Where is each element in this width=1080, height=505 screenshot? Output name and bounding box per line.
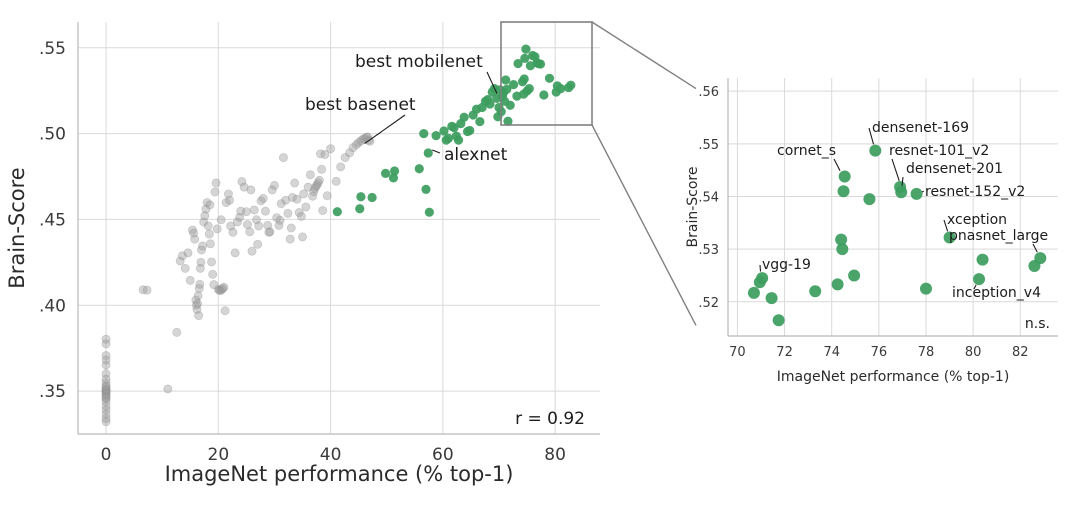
inset-annotation-leader [922, 191, 924, 192]
data-point [225, 196, 233, 204]
data-point [206, 240, 214, 248]
inset-annotation-label: densenet-169 [872, 120, 969, 136]
data-point [332, 177, 340, 185]
data-point [102, 394, 110, 402]
main-annotation-label: best mobilenet [355, 52, 483, 72]
main-y-axis-title: Brain-Score [5, 167, 29, 288]
data-point [509, 80, 518, 89]
data-point [195, 311, 203, 319]
inset-y-tick-label: .56 [698, 85, 719, 100]
data-point [539, 90, 548, 99]
data-point [337, 163, 345, 171]
inset-x-tick-label: 76 [871, 345, 888, 360]
main-y-tick-label: .55 [39, 39, 66, 59]
data-point [270, 181, 278, 189]
data-point [217, 216, 225, 224]
inset-y-axis-title: Brain-Score [685, 167, 701, 248]
data-point [279, 154, 287, 162]
data-point [184, 249, 192, 257]
data-point [211, 188, 219, 196]
data-point [381, 169, 390, 178]
data-point [465, 126, 474, 135]
data-point [460, 113, 469, 122]
data-point [204, 222, 212, 230]
data-point [838, 185, 850, 197]
data-point [520, 54, 529, 63]
data-point [390, 166, 399, 175]
main-y-tick-label: .35 [39, 382, 66, 402]
data-point [756, 272, 768, 284]
data-point [143, 286, 151, 294]
zoom-connector-bottom [592, 125, 696, 325]
data-point [444, 134, 453, 143]
data-point [475, 117, 484, 126]
data-point [977, 254, 989, 266]
data-point [205, 230, 213, 238]
data-point [248, 247, 256, 255]
inset-y-tick-label: .55 [698, 138, 719, 153]
data-point [209, 270, 217, 278]
data-point [255, 222, 263, 230]
data-point [191, 235, 199, 243]
inset-x-tick-label: 74 [823, 345, 840, 360]
data-point [164, 385, 172, 393]
data-point [229, 228, 237, 236]
data-point [454, 136, 463, 145]
data-point [319, 206, 327, 214]
inset-annotation-label: pnasnet_large [949, 228, 1048, 244]
data-point [196, 280, 204, 288]
data-point [237, 207, 245, 215]
inset-annotation-leader [834, 159, 840, 171]
data-point [276, 216, 284, 224]
data-point [284, 209, 292, 217]
zoom-region-box [501, 22, 592, 125]
data-point [246, 228, 254, 236]
data-point [315, 176, 323, 184]
data-point [415, 164, 424, 173]
inset-annotation-leader [760, 265, 761, 272]
brain-score-vs-imagenet-figure: .35.40.45.50.55020406080ImageNet perform… [0, 0, 1080, 505]
main-series-gray [102, 133, 374, 426]
data-point [525, 84, 534, 93]
data-point [836, 243, 848, 255]
data-point [545, 74, 554, 83]
data-point [254, 240, 262, 248]
data-point [895, 186, 907, 198]
data-point [566, 81, 575, 90]
data-point [748, 287, 760, 299]
data-point [102, 382, 110, 390]
data-point [213, 225, 221, 233]
inset-y-tick-label: .53 [698, 243, 719, 258]
inset-annotation-label: densenet-201 [906, 161, 1003, 177]
data-point [206, 201, 214, 209]
data-point [102, 340, 110, 348]
inset-annotation-label: resnet-152_v2 [925, 184, 1025, 200]
zoom-connectors [592, 22, 696, 325]
data-point [286, 235, 294, 243]
data-point [247, 186, 255, 194]
inset-significance-label: n.s. [1025, 316, 1050, 332]
inset-x-axis-title: ImageNet performance (% top-1) [777, 369, 1010, 385]
main-scatter-panel: .35.40.45.50.55020406080ImageNet perform… [5, 22, 600, 486]
data-point [173, 328, 181, 336]
data-point [973, 273, 985, 285]
data-point [501, 75, 510, 84]
main-annotation-label: alexnet [444, 145, 508, 165]
data-point [197, 258, 205, 266]
main-y-tick-label: .45 [39, 210, 66, 230]
data-point [506, 101, 515, 110]
data-point [186, 276, 194, 284]
main-x-axis-title: ImageNet performance (% top-1) [165, 462, 514, 486]
inset-scatter-panel: .52.53.54.55.5670727476788082ImageNet pe… [685, 78, 1058, 385]
data-point [863, 193, 875, 205]
inset-x-tick-label: 72 [776, 345, 793, 360]
inset-annotation-label: resnet-101_v2 [889, 143, 989, 159]
data-point [259, 194, 267, 202]
data-point [421, 185, 430, 194]
data-point [199, 242, 207, 250]
data-point [207, 258, 215, 266]
data-point [368, 193, 377, 202]
data-point [911, 188, 923, 200]
data-point [1034, 252, 1046, 264]
data-point [306, 171, 314, 179]
inset-annotation-leader [892, 159, 899, 181]
data-point [832, 278, 844, 290]
figure-canvas: .35.40.45.50.55020406080ImageNet perform… [0, 0, 1080, 505]
data-point [212, 179, 220, 187]
inset-annotation-leader [1033, 244, 1037, 252]
inset-annotation-label: cornet_s [777, 143, 836, 159]
data-point [920, 283, 932, 295]
data-point [773, 314, 785, 326]
data-point [194, 292, 202, 300]
zoom-connector-top [592, 22, 696, 89]
data-point [520, 74, 529, 83]
main-y-tick-label: .40 [39, 296, 66, 316]
data-point [536, 59, 545, 68]
data-point [355, 204, 364, 213]
main-x-tick-label: 0 [101, 445, 112, 465]
data-point [521, 45, 530, 54]
data-point [193, 299, 201, 307]
data-point [326, 145, 334, 153]
data-point [298, 233, 306, 241]
data-point [356, 192, 365, 201]
data-point [221, 307, 229, 315]
data-point [333, 207, 342, 216]
data-point [869, 145, 881, 157]
main-x-tick-label: 80 [544, 445, 566, 465]
data-point [556, 84, 565, 93]
data-point [287, 224, 295, 232]
inset-x-tick-label: 78 [918, 345, 935, 360]
main-annotation-label: best basenet [305, 95, 416, 115]
inset-annotation-label: xception [947, 212, 1007, 228]
data-point [181, 264, 189, 272]
data-point [231, 249, 239, 257]
inset-x-tick-label: 80 [965, 345, 982, 360]
inset-annotation-label: inception_v4 [952, 285, 1041, 301]
data-point [425, 208, 434, 217]
data-point [424, 148, 433, 157]
data-point [318, 165, 326, 173]
data-point [432, 131, 441, 140]
inset-y-tick-label: .54 [698, 190, 719, 205]
data-point [265, 228, 273, 236]
inset-x-tick-label: 82 [1012, 345, 1029, 360]
data-point [302, 203, 310, 211]
inset-y-tick-label: .52 [698, 296, 719, 311]
data-point [766, 292, 778, 304]
data-point [419, 129, 428, 138]
main-annotation-leader [365, 115, 405, 144]
correlation-label: r = 0.92 [515, 409, 585, 429]
data-point [102, 418, 110, 426]
data-point [102, 361, 110, 369]
data-point [809, 285, 821, 297]
data-point [220, 283, 228, 291]
main-annotation-leader [432, 150, 440, 153]
data-point [323, 192, 331, 200]
inset-annotation-label: vgg-19 [762, 257, 811, 273]
data-point [839, 170, 851, 182]
data-point [250, 206, 258, 214]
data-point [297, 212, 305, 220]
data-point [291, 179, 299, 187]
main-y-tick-label: .50 [39, 125, 66, 145]
inset-x-tick-label: 70 [729, 345, 746, 360]
data-point [848, 269, 860, 281]
data-point [261, 207, 269, 215]
